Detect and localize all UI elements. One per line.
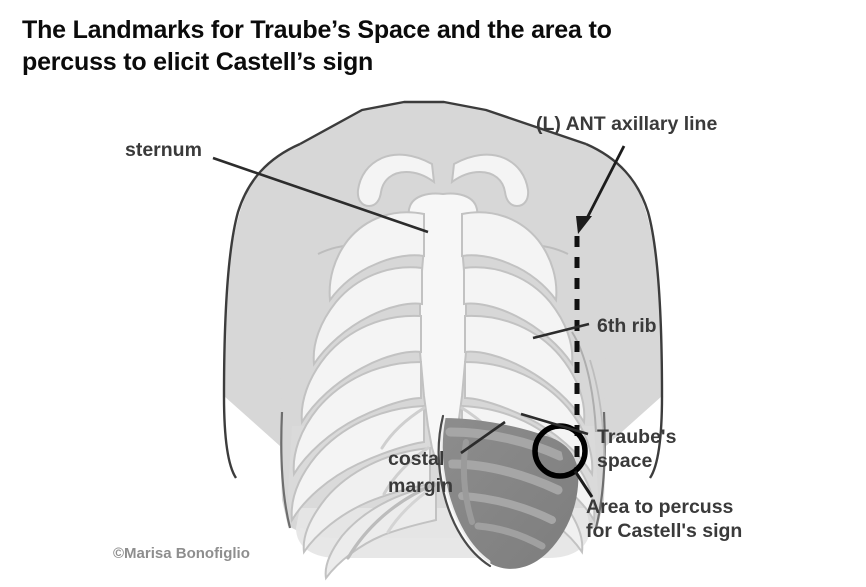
label-traube-space-line-2: space: [597, 450, 652, 472]
label-ant-axillary-line: (L) ANT axillary line: [536, 113, 717, 135]
label-area-to-percuss-line-2: for Castell's sign: [586, 520, 742, 542]
label-area-to-percuss-line-1: Area to percuss: [586, 496, 734, 518]
anatomy-illustration: sternum (L) ANT axillary line 6th rib Tr…: [0, 96, 866, 587]
label-sixth-rib: 6th rib: [597, 315, 657, 337]
label-sternum: sternum: [125, 139, 202, 161]
artist-credit: ©Marisa Bonofiglio: [113, 545, 250, 562]
label-traube-space-line-1: Traube's: [597, 426, 677, 448]
label-costal-margin-line-1: costal: [388, 448, 444, 470]
anatomy-figure: sternum (L) ANT axillary line 6th rib Tr…: [0, 96, 866, 587]
page-title-line-2: percuss to elicit Castell’s sign: [22, 46, 842, 78]
page-title: The Landmarks for Traube’s Space and the…: [22, 14, 842, 78]
label-costal-margin-line-2: margin: [388, 475, 453, 497]
page-title-line-1: The Landmarks for Traube’s Space and the…: [22, 14, 842, 46]
figure-page: The Landmarks for Traube’s Space and the…: [0, 0, 866, 587]
